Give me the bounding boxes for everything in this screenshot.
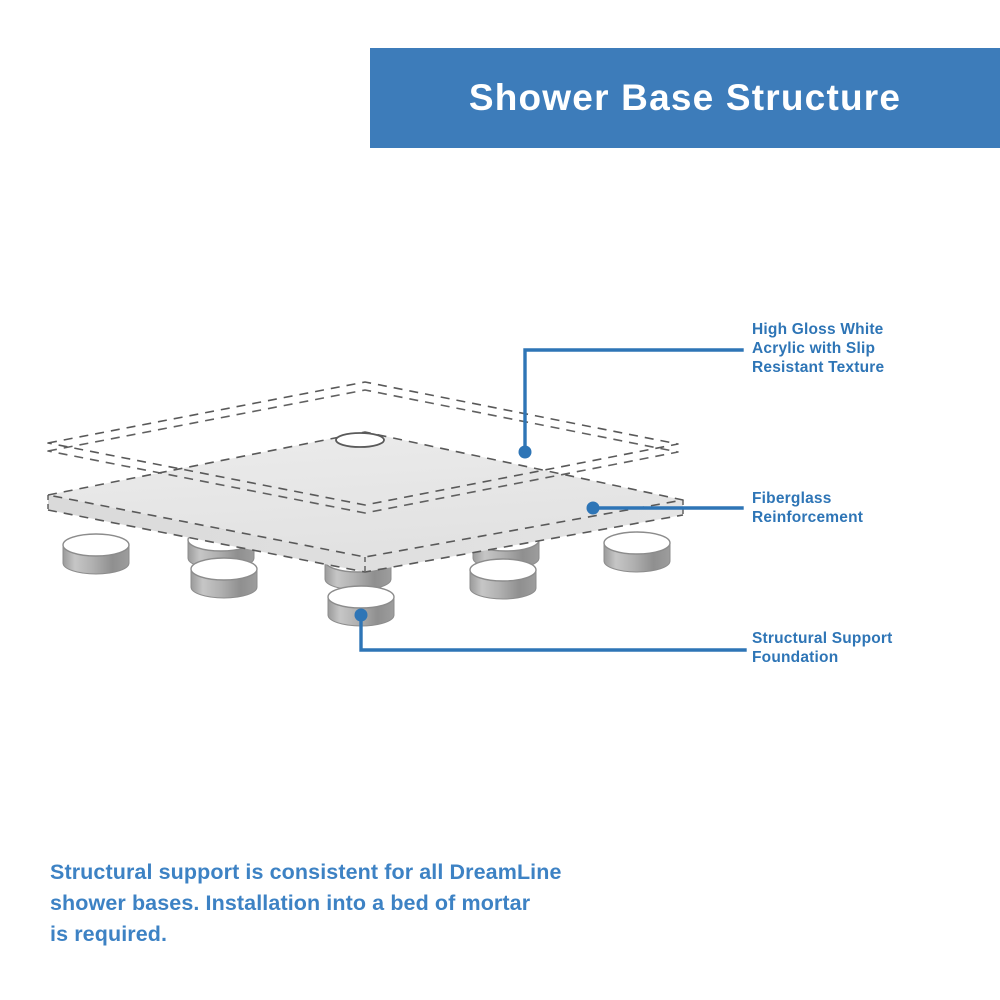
callout-label-acrylic: High Gloss White Acrylic with Slip Resis… bbox=[752, 320, 967, 377]
leader-line-support bbox=[361, 615, 745, 650]
footer-caption: Structural support is consistent for all… bbox=[50, 857, 690, 950]
leader-dot-acrylic bbox=[519, 446, 532, 459]
callout-label-support: Structural Support Foundation bbox=[752, 629, 967, 667]
leader-dot-fiberglass bbox=[587, 502, 600, 515]
support-ring bbox=[191, 558, 257, 598]
drain-opening bbox=[336, 433, 384, 447]
leader-dot-support bbox=[355, 609, 368, 622]
support-ring bbox=[470, 559, 536, 599]
support-ring bbox=[63, 534, 129, 574]
shower-base-exploded-diagram: High Gloss White Acrylic with Slip Resis… bbox=[0, 0, 1000, 1000]
callout-label-fiberglass: Fiberglass Reinforcement bbox=[752, 489, 967, 527]
support-ring bbox=[604, 532, 670, 572]
